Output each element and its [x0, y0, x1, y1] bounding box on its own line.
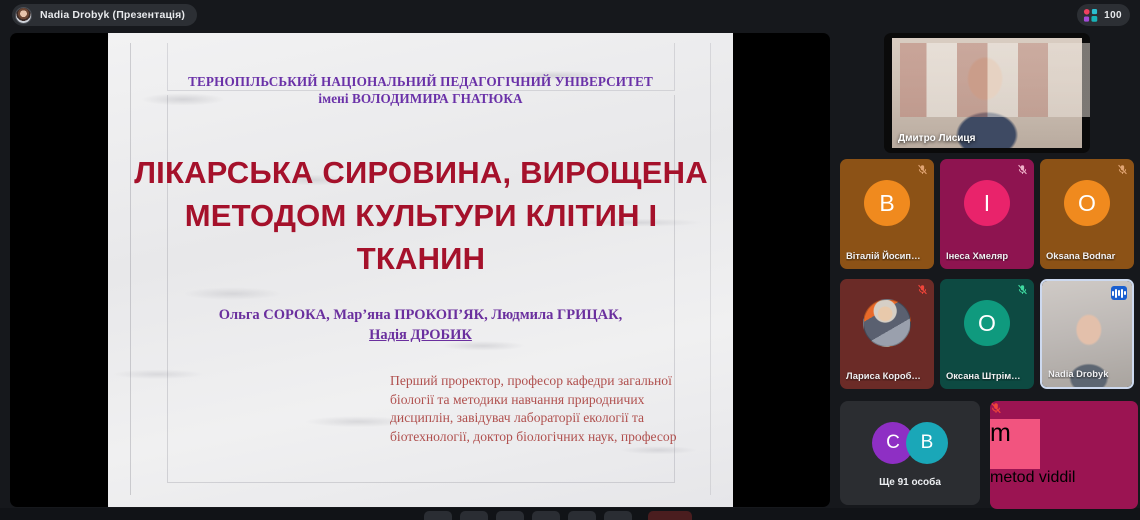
user-avatar-icon: [15, 7, 32, 24]
participant-name: Віталій Йосип…: [846, 250, 930, 261]
video-background-blinds: [900, 43, 1090, 117]
participant-initial: В: [864, 180, 910, 226]
meeting-window: Nadia Drobyk (Презентація) 100 ТЕРНОПІЛЬ…: [0, 0, 1140, 520]
control-button-3[interactable]: [496, 511, 524, 520]
participants-rail: Дмитро Лисиця В Віталій Йосип… І Інеса Х…: [838, 33, 1138, 513]
participant-name: Лариса Короб…: [846, 370, 930, 381]
slide-university-line1: ТЕРНОПІЛЬСЬКИЙ НАЦІОНАЛЬНИЙ ПЕДАГОГІЧНИЙ…: [138, 73, 703, 90]
mic-muted-icon: [917, 164, 928, 175]
participant-name: Oksana Bodnar: [1046, 250, 1130, 261]
overflow-avatars: С В: [872, 422, 948, 464]
top-bar: Nadia Drobyk (Презентація) 100: [0, 0, 1140, 30]
audio-wave-icon: [1111, 286, 1127, 300]
control-button-5[interactable]: [568, 511, 596, 520]
control-button-2[interactable]: [460, 511, 488, 520]
participants-count: 100: [1104, 10, 1122, 21]
participant-name: Оксана Штрім…: [946, 370, 1030, 381]
slide-title: ЛІКАРСЬКА СИРОВИНА, ВИРОЩЕНА МЕТОДОМ КУЛ…: [126, 151, 716, 280]
participant-tile[interactable]: В Віталій Йосип…: [840, 159, 934, 269]
mic-muted-icon-green: [1017, 284, 1028, 295]
control-button-1[interactable]: [424, 511, 452, 520]
slide-authors-line2: Надія ДРОБИК: [163, 325, 678, 345]
active-speaker-name: Дмитро Лисиця: [898, 133, 975, 144]
participant-photo-avatar: [863, 299, 911, 347]
participant-name: Інеса Хмеляр: [946, 250, 1030, 261]
mic-muted-icon: [917, 284, 928, 295]
slide-position-text: Перший проректор, професор кафедри загал…: [390, 372, 690, 446]
participant-name: Nadia Drobyk: [1048, 368, 1128, 379]
participant-tile[interactable]: Лариса Короб…: [840, 279, 934, 389]
participant-tile[interactable]: І Інеса Хмеляр: [940, 159, 1034, 269]
overflow-label: Ще 91 особа: [840, 477, 980, 488]
presentation-slide: ТЕРНОПІЛЬСЬКИЙ НАЦІОНАЛЬНИЙ ПЕДАГОГІЧНИЙ…: [108, 33, 733, 507]
slide-authors-line1: Ольга СОРОКА, Мар’яна ПРОКОП’ЯК, Людмила…: [163, 305, 678, 325]
participant-tile[interactable]: О Oksana Bodnar: [1040, 159, 1134, 269]
participant-initial: О: [1064, 180, 1110, 226]
mic-muted-icon: [1017, 164, 1028, 175]
leave-call-button[interactable]: [648, 511, 692, 520]
slide-university-line2: імені ВОЛОДИМИРА ГНАТЮКА: [138, 90, 703, 107]
presenter-chip[interactable]: Nadia Drobyk (Презентація): [12, 4, 197, 26]
participant-tile-active[interactable]: Nadia Drobyk: [1040, 279, 1134, 389]
participant-initial: m: [990, 419, 1040, 469]
mic-muted-icon: [990, 402, 1002, 414]
participant-initial: І: [964, 180, 1010, 226]
participant-tile[interactable]: m metod viddil: [990, 401, 1138, 509]
participant-name: metod viddil: [990, 469, 1075, 486]
active-speaker-tile[interactable]: Дмитро Лисиця: [884, 33, 1090, 153]
control-button-6[interactable]: [604, 511, 632, 520]
participants-grid-icon: [1083, 8, 1098, 23]
slide-authors: Ольга СОРОКА, Мар’яна ПРОКОП’ЯК, Людмила…: [163, 305, 678, 345]
slide-university-heading: ТЕРНОПІЛЬСЬКИЙ НАЦІОНАЛЬНИЙ ПЕДАГОГІЧНИЙ…: [138, 73, 703, 107]
overflow-avatar-2: В: [906, 422, 948, 464]
participant-initial: О: [964, 300, 1010, 346]
mic-muted-icon: [1117, 164, 1128, 175]
shared-screen-stage[interactable]: ТЕРНОПІЛЬСЬКИЙ НАЦІОНАЛЬНИЙ ПЕДАГОГІЧНИЙ…: [10, 33, 830, 507]
participant-tile[interactable]: О Оксана Штрім…: [940, 279, 1034, 389]
control-button-4[interactable]: [532, 511, 560, 520]
overflow-participants-tile[interactable]: С В Ще 91 особа: [840, 401, 980, 505]
presenter-label: Nadia Drobyk (Презентація): [40, 9, 185, 21]
video-feed: [892, 38, 1082, 148]
participants-button[interactable]: 100: [1077, 4, 1130, 26]
